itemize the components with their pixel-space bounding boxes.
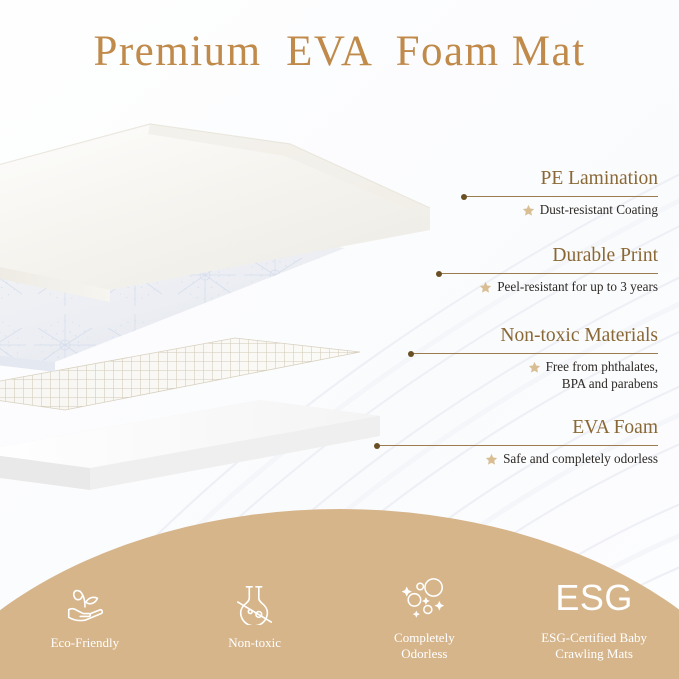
callout-non-toxic-materials: Non-toxic Materials Free from phthalates… [410,325,658,392]
callout-rule [410,353,658,354]
product-infographic: Premium EVA Foam Mat [0,0,679,679]
badge-caption: Non-toxic [228,635,281,651]
callout-subtext: Safe and completely odorless [503,451,658,468]
callout-heading: PE Lamination [463,168,658,190]
badge-non-toxic: Non-toxic [170,577,340,679]
star-icon [522,204,535,222]
callout-rule [376,445,658,446]
callout-heading: Non-toxic Materials [410,325,658,347]
star-icon [485,453,498,471]
callout-subtext: Dust-resistant Coating [540,202,658,219]
badge-row: Eco-Friendly Non-toxic [0,504,679,679]
callout-heading: EVA Foam [376,417,658,439]
callout-subtext: Peel-resistant for up to 3 years [497,279,658,296]
connector-dot-icon [408,351,414,357]
esg-text-logo: ESG [555,572,633,624]
callout-eva-foam: EVA Foam Safe and completely odorless [376,417,658,471]
star-icon [528,361,541,379]
badge-esg-certified: ESG ESG-Certified Baby Crawling Mats [509,572,679,679]
badge-caption: Eco-Friendly [51,635,120,651]
no-flask-icon [234,577,276,629]
badge-eco-friendly: Eco-Friendly [0,577,170,679]
esg-logo-text: ESG [555,580,633,616]
connector-dot-icon [374,443,380,449]
badge-caption: Completely Odorless [394,630,455,663]
connector-dot-icon [436,271,442,277]
star-icon [479,281,492,299]
badge-caption: ESG-Certified Baby Crawling Mats [541,630,647,663]
callout-subtext: Free from phthalates, BPA and parabens [546,359,658,392]
badge-completely-odorless: Completely Odorless [340,572,510,679]
callout-heading: Durable Print [438,245,658,267]
hand-plant-icon [62,577,108,629]
callout-rule [438,273,658,274]
callout-durable-print: Durable Print Peel-resistant for up to 3… [438,245,658,299]
page-title: Premium EVA Foam Mat [0,27,679,76]
exploded-foam-mat-illustration [0,100,430,540]
connector-dot-icon [461,194,467,200]
sparkles-bubbles-icon [400,572,448,624]
callout-rule [463,196,658,197]
callout-pe-lamination: PE Lamination Dust-resistant Coating [463,168,658,222]
